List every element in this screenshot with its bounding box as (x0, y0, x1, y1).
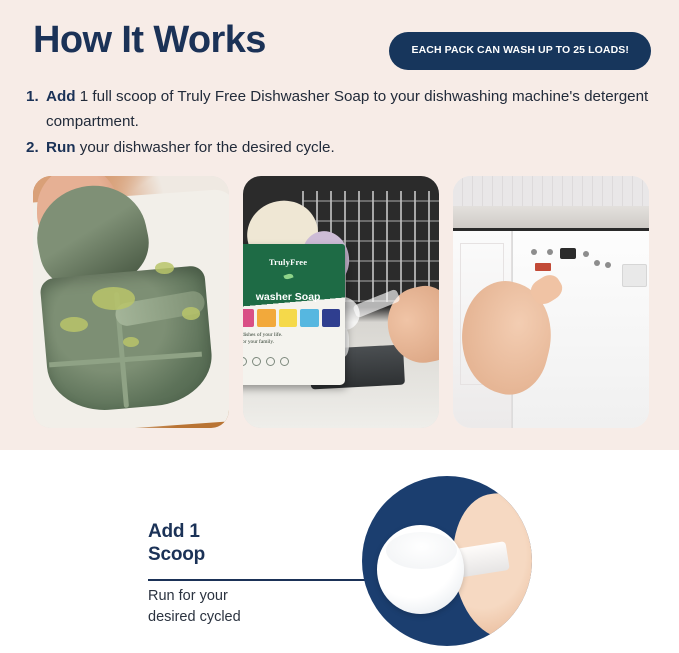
bottom-section (0, 450, 679, 653)
callout-title: Add 1 Scoop (148, 520, 205, 566)
page-title: How It Works (33, 16, 266, 64)
photo-dishwasher-panel (453, 176, 649, 428)
benefit-tile (300, 309, 319, 327)
dishwasher-handle (622, 264, 647, 287)
start-indicator (535, 263, 551, 271)
control-panel (527, 247, 617, 277)
photo-dirty-plate-art (33, 176, 229, 428)
benefit-tile (322, 309, 341, 327)
cert-icon (243, 357, 247, 366)
cert-icon (280, 357, 289, 366)
cycle-button-icon (547, 249, 553, 255)
how-it-works-infographic: How It Works EACH PACK CAN WASH UP TO 25… (0, 0, 679, 653)
pouch-tagline: est dishes of your life. fe for your fam… (243, 332, 342, 346)
benefit-tile (257, 309, 276, 327)
option-button-icon (583, 251, 589, 257)
power-button-icon (531, 249, 537, 255)
food-residue (60, 317, 87, 332)
brand-label: TrulyFree (243, 257, 336, 267)
callout-subtext: Run for your desired cycled (148, 586, 241, 628)
step-lead: Add (46, 88, 76, 105)
step-number: 2. (24, 135, 46, 160)
step-rest: your dishwasher for the desired cycle. (76, 139, 335, 156)
step-text: Add 1 full scoop of Truly Free Dishwashe… (46, 84, 656, 134)
benefit-tile (243, 309, 254, 327)
photo-product-pouch: TrulyFree washer Soap est dishes of your… (243, 176, 439, 428)
scoop-circle-image (362, 476, 532, 646)
step-lead: Run (46, 139, 76, 156)
benefit-tiles (243, 309, 340, 327)
photo-strip: TrulyFree washer Soap est dishes of your… (0, 176, 679, 428)
photo-product-pouch-art: TrulyFree washer Soap est dishes of your… (243, 176, 439, 428)
leaf-icon (283, 272, 293, 280)
pouch-tagline-line2: fe for your family. (243, 339, 342, 346)
product-pouch: TrulyFree washer Soap est dishes of your… (243, 244, 345, 385)
cert-icon (252, 357, 261, 366)
benefit-tile (279, 309, 298, 327)
option-button-icon (605, 262, 611, 268)
product-name-label: washer Soap (243, 291, 343, 303)
option-button-icon (594, 260, 600, 266)
callout-title-line2: Scoop (148, 543, 205, 566)
photo-dirty-plate (33, 176, 229, 428)
step-rest: 1 full scoop of Truly Free Dishwasher So… (46, 88, 648, 130)
step-text: Run your dishwasher for the desired cycl… (46, 135, 656, 160)
step-number: 1. (24, 84, 46, 109)
header-row: How It Works EACH PACK CAN WASH UP TO 25… (33, 14, 653, 70)
top-section: How It Works EACH PACK CAN WASH UP TO 25… (0, 0, 679, 450)
callout-title-line1: Add 1 (148, 520, 205, 543)
callout-subtext-line2: desired cycled (148, 607, 241, 628)
marble-countertop (453, 206, 649, 231)
steps-list: 1. Add 1 full scoop of Truly Free Dishwa… (24, 84, 656, 161)
callout-subtext-line1: Run for your (148, 586, 241, 607)
food-residue (182, 307, 200, 320)
loads-badge: EACH PACK CAN WASH UP TO 25 LOADS! (389, 32, 651, 70)
food-residue (92, 287, 135, 310)
cert-icon (266, 357, 275, 366)
photo-dishwasher-panel-art (453, 176, 649, 428)
step-item: 1. Add 1 full scoop of Truly Free Dishwa… (24, 84, 656, 134)
step-item: 2. Run your dishwasher for the desired c… (24, 135, 656, 160)
pouch-tagline-line1: est dishes of your life. (243, 332, 342, 339)
tile-backsplash (453, 176, 649, 209)
display-screen (560, 248, 576, 259)
pouch-certification-icons (243, 356, 338, 369)
